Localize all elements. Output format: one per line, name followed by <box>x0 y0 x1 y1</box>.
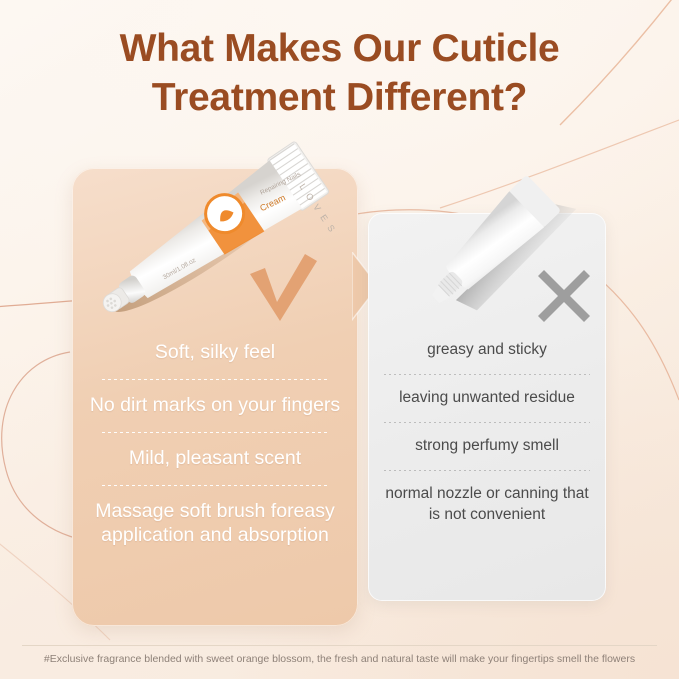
list-item: greasy and sticky <box>376 326 598 374</box>
page-title-line1: What Makes Our Cuticle <box>120 27 560 70</box>
check-mark-icon <box>243 252 321 324</box>
list-item: Massage soft brush foreasy application a… <box>80 485 350 562</box>
cross-mark-icon <box>538 270 590 322</box>
footer-divider <box>22 645 657 646</box>
list-item: No dirt marks on your fingers <box>80 379 350 432</box>
list-item: Soft, silky feel <box>80 326 350 379</box>
footer-note: #Exclusive fragrance blended with sweet … <box>0 652 679 667</box>
benefits-list: Soft, silky feel No dirt marks on your f… <box>80 326 350 562</box>
page-title: What Makes Our Cuticle Treatment Differe… <box>0 24 679 122</box>
list-item: normal nozzle or canning that is not con… <box>376 470 598 539</box>
list-item: strong perfumy smell <box>376 422 598 470</box>
infographic-canvas: What Makes Our Cuticle Treatment Differe… <box>0 0 679 679</box>
page-title-line2: Treatment Different? <box>0 73 679 122</box>
list-item: Mild, pleasant scent <box>80 432 350 485</box>
drawbacks-list: greasy and sticky leaving unwanted resid… <box>376 326 598 539</box>
list-item: leaving unwanted residue <box>376 374 598 422</box>
